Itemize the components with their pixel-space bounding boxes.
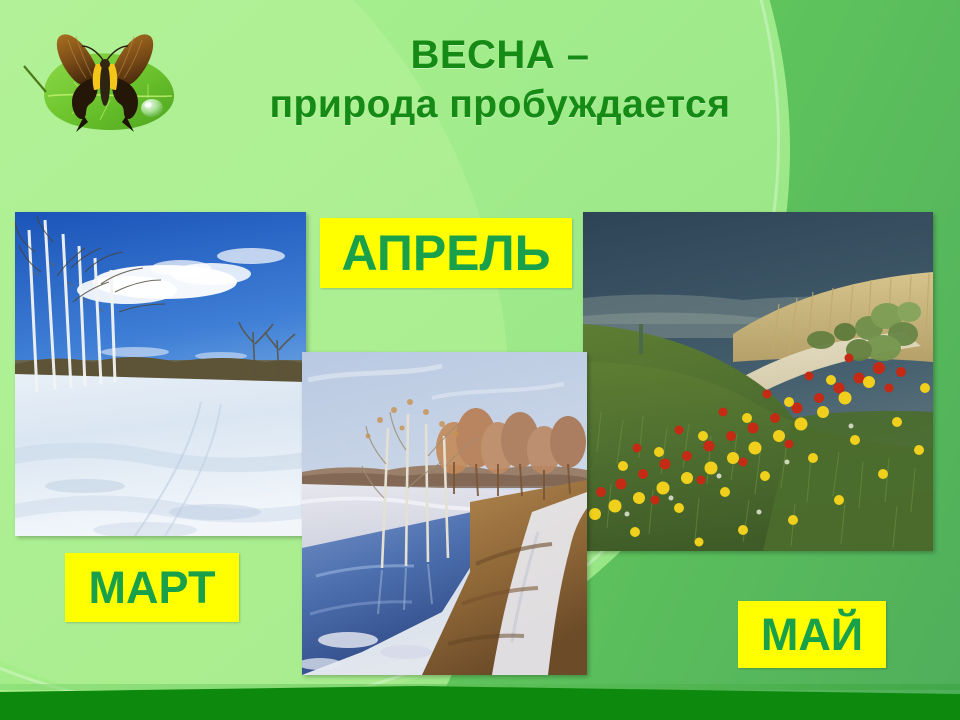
photo-march — [15, 212, 306, 536]
photo-may — [583, 212, 933, 551]
label-march-text: МАРТ — [89, 562, 216, 614]
slide-title: ВЕСНА – природа пробуждается — [150, 30, 850, 130]
title-line-2: природа пробуждается — [150, 80, 850, 130]
label-may[interactable]: МАЙ — [738, 601, 886, 668]
slide-canvas: ВЕСНА – природа пробуждается — [0, 0, 960, 720]
label-april-text: АПРЕЛЬ — [341, 224, 550, 282]
label-march[interactable]: МАРТ — [65, 553, 239, 622]
label-april[interactable]: АПРЕЛЬ — [320, 218, 572, 288]
photo-april-painting — [302, 352, 587, 675]
label-may-text: МАЙ — [761, 609, 863, 661]
title-line-1: ВЕСНА – — [150, 30, 850, 80]
